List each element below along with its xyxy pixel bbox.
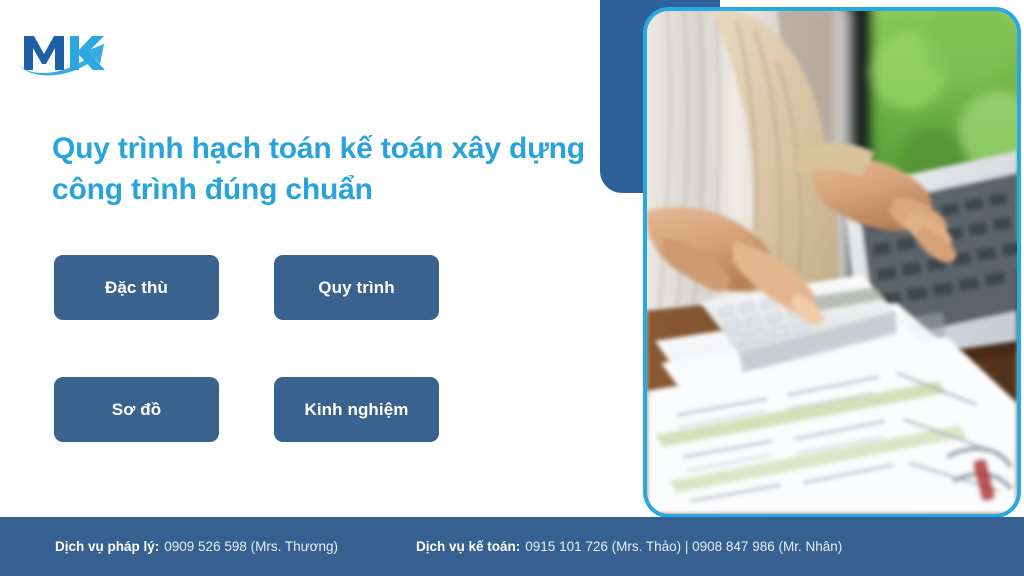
accounting-desk-illustration (647, 11, 1017, 514)
contact-footer: Dịch vụ pháp lý: 0909 526 598 (Mrs. Thươ… (0, 517, 1024, 576)
chip-so-do[interactable]: Sơ đồ (54, 377, 219, 442)
mk-swoosh-logo (16, 22, 116, 80)
promo-banner: Quy trình hạch toán kế toán xây dựng côn… (0, 0, 1024, 576)
chip-dac-thu[interactable]: Đặc thù (54, 255, 219, 320)
chip-kinh-nghiem[interactable]: Kinh nghiệm (274, 377, 439, 442)
footer-legal-service: Dịch vụ pháp lý: 0909 526 598 (Mrs. Thươ… (55, 517, 338, 576)
footer-accounting-label: Dịch vụ kế toán: (416, 539, 520, 554)
footer-legal-value: 0909 526 598 (Mrs. Thương) (164, 539, 338, 554)
chip-quy-trinh[interactable]: Quy trình (274, 255, 439, 320)
page-title: Quy trình hạch toán kế toán xây dựng côn… (52, 128, 612, 211)
footer-accounting-value: 0915 101 726 (Mrs. Thảo) | 0908 847 986 … (525, 539, 842, 554)
mk-logo[interactable] (16, 22, 116, 80)
hero-photo (643, 7, 1021, 518)
topic-chip-group: Đặc thù Quy trình Sơ đồ Kinh nghiệm (54, 255, 474, 442)
footer-legal-label: Dịch vụ pháp lý: (55, 539, 159, 554)
footer-accounting-service: Dịch vụ kế toán: 0915 101 726 (Mrs. Thảo… (416, 517, 842, 576)
